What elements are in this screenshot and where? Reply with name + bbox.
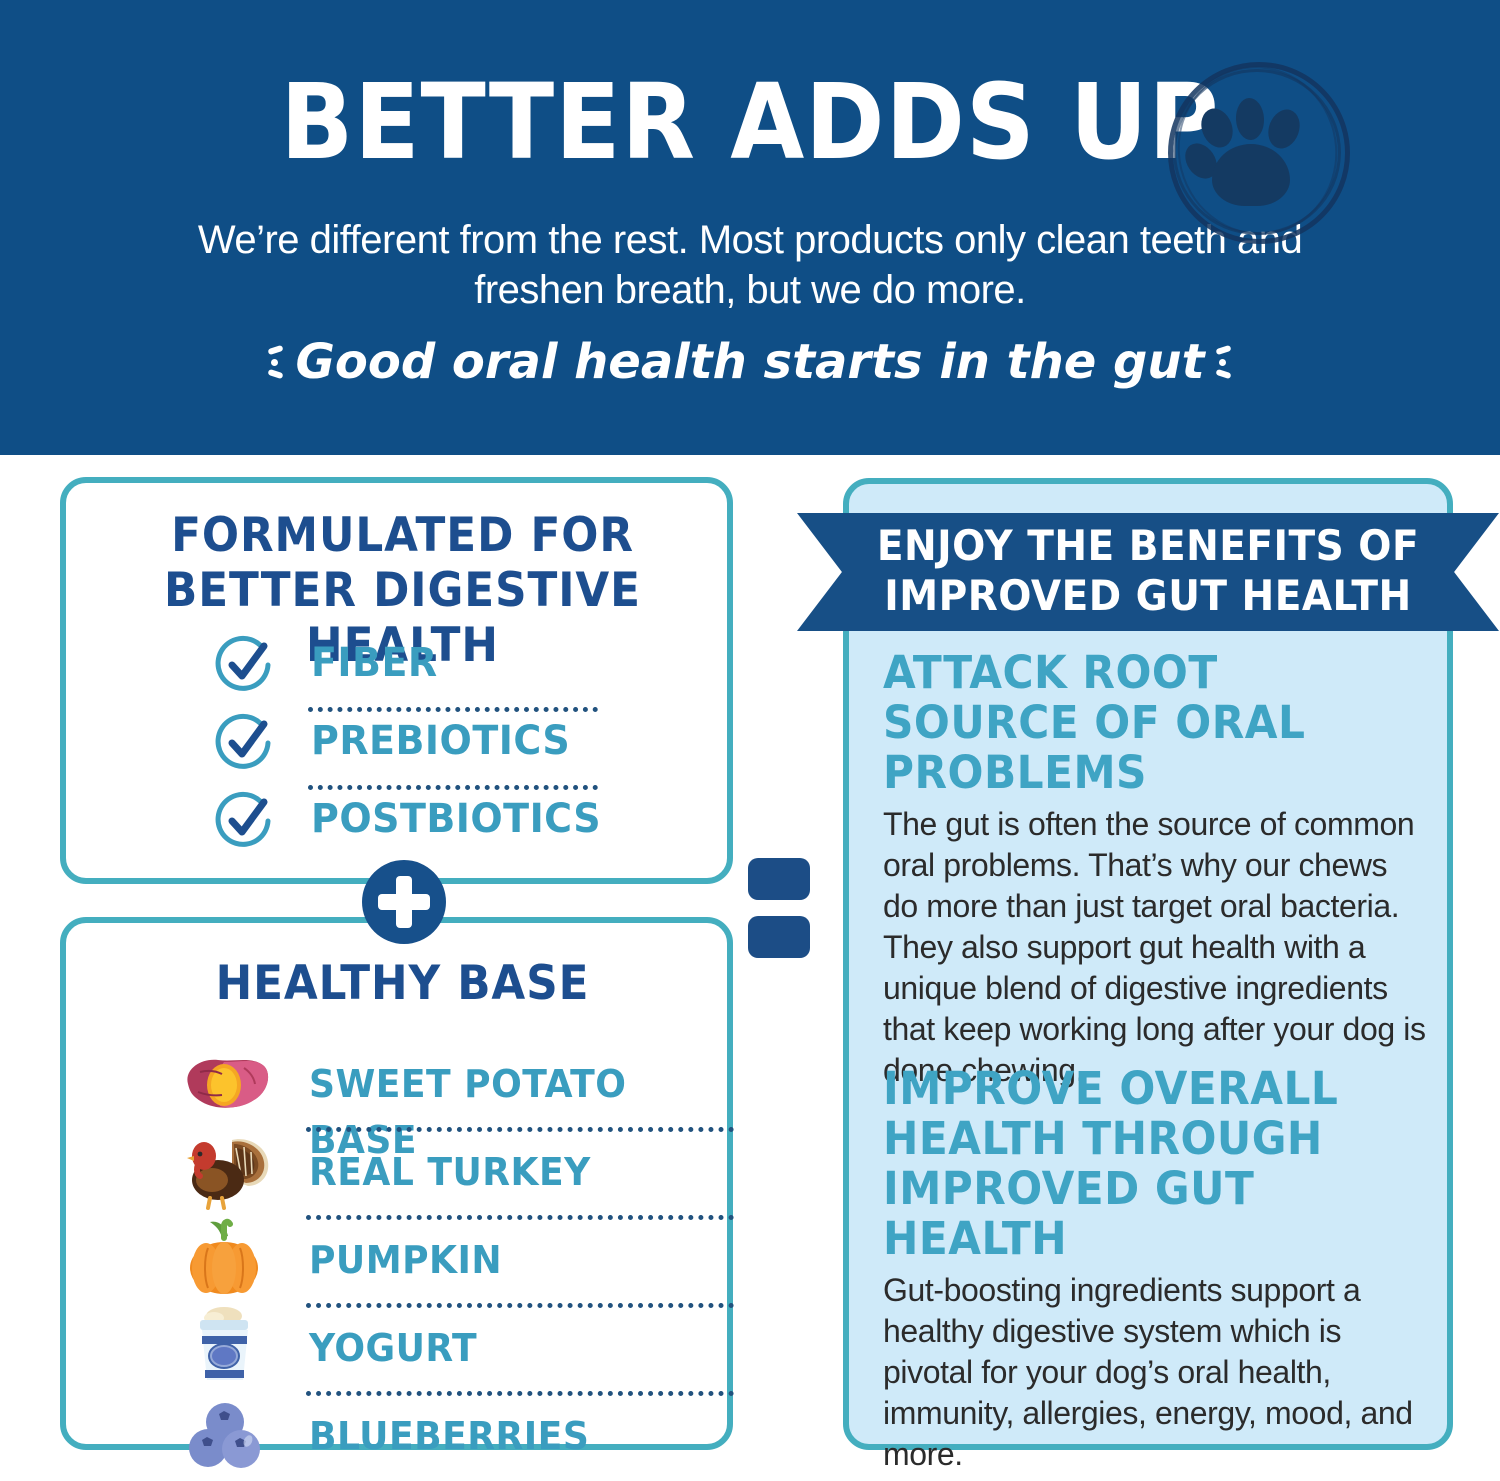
list-item-label: FIBER [311,634,438,692]
check-circle-icon [214,632,278,696]
benefit-body: The gut is often the source of common or… [883,804,1428,1091]
list-item: BLUEBERRIES [66,1392,739,1480]
benefits-ribbon: ENJOY THE BENEFITS OF IMPROVED GUT HEALT… [797,513,1499,631]
benefit-block-attack-root-source: ATTACK ROOT SOURCE OF ORAL PROBLEMS The … [883,648,1428,1091]
yogurt-cup-icon [178,1304,274,1388]
tagline-ornament-right-icon [1209,335,1239,389]
list-item: PREBIOTICS [66,706,739,784]
list-item-label: BLUEBERRIES [309,1408,589,1464]
list-item: POSTBIOTICS [66,784,739,862]
benefit-body: Gut-boosting ingredients support a healt… [883,1270,1428,1475]
check-circle-icon [214,710,278,774]
list-item: PUMPKIN [66,1216,739,1304]
list-item-label: REAL TURKEY [309,1144,591,1200]
header-tagline: Good oral health starts in the gut [295,333,1204,391]
list-item-label: YOGURT [309,1320,477,1376]
benefits-ribbon-line-1: ENJOY THE BENEFITS OF [822,521,1475,571]
healthy-base-list: SWEET POTATO BASE [66,1040,739,1480]
formulated-card: FORMULATED FOR BETTER DIGESTIVE HEALTH F… [60,477,733,884]
formulated-checklist: FIBER PREBIOTICS POSTBIOTICS [66,628,739,862]
healthy-base-card: HEALTHY BASE SWEET POTATO BASE [60,917,733,1450]
benefit-heading: IMPROVE OVERALL HEALTH THROUGH IMPROVED … [883,1064,1395,1264]
list-item-label: PUMPKIN [309,1232,502,1288]
list-item: REAL TURKEY [66,1128,739,1216]
turkey-icon [178,1128,274,1212]
benefit-heading: ATTACK ROOT SOURCE OF ORAL PROBLEMS [883,648,1395,798]
equals-sign-icon [748,858,810,962]
benefits-ribbon-title: ENJOY THE BENEFITS OF IMPROVED GUT HEALT… [822,521,1475,621]
sweet-potato-icon [178,1040,274,1124]
header-tagline-row: Good oral health starts in the gut [0,333,1500,391]
list-item: YOGURT [66,1304,739,1392]
pumpkin-icon [178,1216,274,1300]
blueberries-icon [178,1392,274,1476]
list-item: FIBER [66,628,739,706]
list-item: SWEET POTATO BASE [66,1040,739,1128]
plus-circle-icon [362,860,446,944]
check-circle-icon [214,788,278,852]
header-banner: BETTER ADDS UP We’re different from the … [0,0,1500,455]
healthy-base-heading: HEALTHY BASE [90,956,716,1011]
list-item-label: PREBIOTICS [311,712,570,770]
list-item-label: POSTBIOTICS [311,790,601,848]
paw-print-icon [1168,62,1340,234]
benefit-block-improve-overall-health: IMPROVE OVERALL HEALTH THROUGH IMPROVED … [883,1064,1428,1475]
tagline-ornament-left-icon [261,335,291,389]
paw-main-pad [1212,144,1290,206]
benefits-ribbon-line-2: IMPROVED GUT HEALTH [822,571,1475,621]
